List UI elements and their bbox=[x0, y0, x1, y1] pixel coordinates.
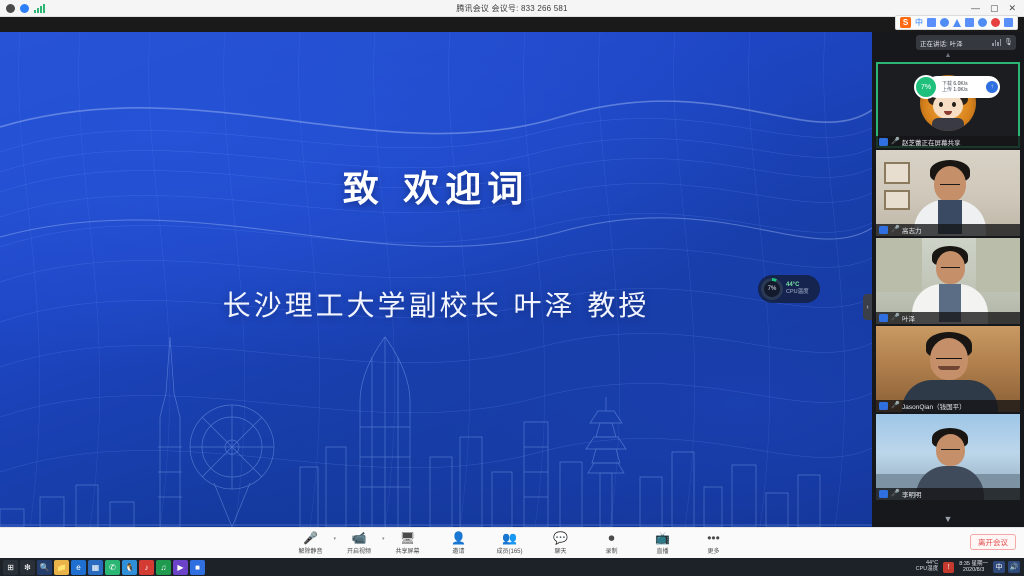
toolbar-label: 邀请 bbox=[453, 546, 465, 555]
share-screen-icon: 🖥 bbox=[400, 531, 415, 545]
participant-name: JasonQian（钱国平） bbox=[902, 401, 966, 411]
microphone-icon: 🎤 bbox=[891, 490, 899, 498]
record-status-icon bbox=[20, 4, 29, 13]
participant-panel: 正在讲话: 叶泽 🎙 ▲ 7% 下载 6.0K/s 上传 1.0K/s bbox=[872, 32, 1024, 527]
participant-tile-3[interactable]: 🎤 JasonQian（钱国平） bbox=[876, 326, 1020, 412]
popup-rows: 下载 6.0K/s 上传 1.0K/s bbox=[942, 81, 968, 94]
cpu-monitor-widget[interactable]: 7% 44°C CPU温度 bbox=[758, 275, 820, 303]
video-on-icon bbox=[879, 490, 888, 498]
tile-2-namebar: 🎤 叶泽 bbox=[876, 312, 1020, 324]
wechat-icon[interactable]: ✆ bbox=[105, 560, 120, 575]
window-controls: — ▢ ✕ bbox=[904, 4, 1024, 13]
mute-status-icon bbox=[6, 4, 15, 13]
microphone-muted-icon: 🎤 bbox=[303, 531, 318, 545]
share-screen-icon bbox=[879, 138, 888, 146]
live-icon: 📺 bbox=[655, 531, 670, 545]
tile-0-namebar: 🎤 赵芝蕾正在屏幕共享 bbox=[876, 136, 1020, 148]
toolbar-button-more[interactable]: ••• 更多 bbox=[694, 531, 734, 555]
netease-icon[interactable]: ♪ bbox=[139, 560, 154, 575]
participant-name: 叶泽 bbox=[902, 313, 915, 323]
members-icon: 👥 bbox=[502, 531, 517, 545]
cpu-temp-block: 44°C CPU温度 bbox=[786, 282, 809, 295]
speaking-label: 正在讲话: 叶泽 bbox=[920, 38, 963, 48]
participant-name: 高志力 bbox=[902, 225, 922, 235]
panel-scroll-up[interactable]: ▲ bbox=[872, 51, 1024, 60]
more-icon: ••• bbox=[707, 531, 720, 545]
titlebar-status-icons bbox=[0, 4, 120, 13]
taskbar-apps: ⊞ ❇ 🔍 📁 e ▦ ✆ 🐧 ♪ ♫ ▶ ■ bbox=[0, 560, 205, 575]
tile-4-namebar: 🎤 李明明 bbox=[876, 488, 1020, 500]
voice-input-icon[interactable] bbox=[953, 19, 961, 27]
toolbar-label: 开启视频 bbox=[347, 546, 371, 555]
start-icon[interactable]: ⊞ bbox=[3, 560, 18, 575]
toolbar-button-share[interactable]: 🖥 共享屏幕 bbox=[388, 531, 428, 555]
taskbar-cpu-widget[interactable]: 44°C CPU温度 bbox=[916, 561, 939, 573]
participant-name: 赵芝蕾正在屏幕共享 bbox=[902, 137, 961, 147]
skin-icon[interactable] bbox=[991, 18, 1000, 27]
panel-scroll-down[interactable]: ▼ bbox=[872, 513, 1024, 525]
toolbar-label: 直播 bbox=[657, 546, 669, 555]
window-title: 腾讯会议 会议号: 833 266 581 bbox=[120, 3, 904, 14]
close-button[interactable]: ✕ bbox=[1008, 4, 1016, 13]
microphone-icon: 🎤 bbox=[891, 314, 899, 322]
participant-tile-4[interactable]: 🎤 李明明 bbox=[876, 414, 1020, 500]
chevron-down-icon[interactable]: ▾ bbox=[333, 536, 336, 542]
toolbox-icon[interactable] bbox=[978, 18, 987, 27]
taskbar-cpu-label: CPU温度 bbox=[916, 567, 939, 573]
video-on-icon bbox=[879, 402, 888, 410]
toolbar-button-members[interactable]: 👥 成员(165) bbox=[490, 531, 530, 555]
cpu-temp-label: CPU温度 bbox=[786, 289, 809, 295]
popup-upload-label: 上传 bbox=[942, 87, 952, 93]
taskbar-clock[interactable]: 8:35 星期一 2020/8/3 bbox=[959, 561, 988, 573]
music-icon[interactable]: ♫ bbox=[156, 560, 171, 575]
ime-icon[interactable]: 中 bbox=[993, 561, 1005, 573]
network-speed-popup: 7% 下载 6.0K/s 上传 1.0K/s ↑ bbox=[926, 76, 1000, 98]
popup-download-value: 6.0K/s bbox=[953, 81, 967, 87]
popup-download-label: 下载 bbox=[942, 81, 952, 87]
participant-tile-1[interactable]: 🎤 高志力 bbox=[876, 150, 1020, 236]
end-meeting-button[interactable]: 离开会议 bbox=[970, 534, 1016, 550]
toolbar-label: 成员(165) bbox=[497, 546, 523, 555]
video-on-icon bbox=[879, 314, 888, 322]
toolbar-button-live[interactable]: 📺 直播 bbox=[643, 531, 683, 555]
toolbar-button-mute[interactable]: 🎤 解除静音 bbox=[290, 531, 330, 555]
edge-icon[interactable]: e bbox=[71, 560, 86, 575]
meeting-toolbar: 🎤 解除静音 ▾ 📹 开启视频 ▾ 🖥 共享屏幕 👤 邀请 👥 成员(165) bbox=[0, 527, 1024, 558]
task-view-icon[interactable]: ❇ bbox=[20, 560, 35, 575]
menu-icon[interactable] bbox=[1004, 18, 1013, 27]
screenshot-icon[interactable] bbox=[965, 18, 974, 27]
toolbar-label: 聊天 bbox=[555, 546, 567, 555]
toolbar-button-invite[interactable]: 👤 邀请 bbox=[439, 531, 479, 555]
video-on-icon bbox=[879, 226, 888, 234]
microphone-icon: 🎤 bbox=[891, 138, 899, 146]
shared-screen-stage: 致 欢迎词 长沙理工大学副校长 叶泽 教授 7% 44°C CPU温度 › bbox=[0, 32, 872, 527]
toolbar-label: 录制 bbox=[606, 546, 618, 555]
sogou-ime-toolbar[interactable]: S 中 bbox=[895, 15, 1018, 30]
maximize-button[interactable]: ▢ bbox=[990, 4, 999, 13]
taskbar-tray-icons: 中 🔊 bbox=[993, 561, 1020, 573]
slide-subtitle: 长沙理工大学副校长 叶泽 教授 bbox=[0, 284, 872, 324]
taskbar-tray: 44°C CPU温度 ! 8:35 星期一 2020/8/3 中 🔊 bbox=[916, 561, 1024, 573]
popup-badge-icon: ↑ bbox=[986, 81, 998, 93]
toolbar-items: 🎤 解除静音 ▾ 📹 开启视频 ▾ 🖥 共享屏幕 👤 邀请 👥 成员(165) bbox=[290, 531, 733, 555]
audio-wave-icon bbox=[992, 39, 1001, 46]
network-signal-icon bbox=[34, 4, 45, 13]
participant-name: 李明明 bbox=[902, 489, 922, 499]
microphone-icon: 🎤 bbox=[891, 226, 899, 234]
chevron-down-icon[interactable]: ▾ bbox=[382, 536, 385, 542]
window-titlebar: 腾讯会议 会议号: 833 266 581 — ▢ ✕ bbox=[0, 0, 1024, 17]
popup-upload-value: 1.0K/s bbox=[953, 87, 967, 93]
microphone-icon: 🎙 bbox=[1004, 39, 1012, 47]
speaking-indicator: 正在讲话: 叶泽 🎙 bbox=[916, 35, 1016, 50]
chinese-mode-icon[interactable]: 中 bbox=[915, 19, 923, 27]
meeting-icon[interactable]: ■ bbox=[190, 560, 205, 575]
qq-icon[interactable]: 🐧 bbox=[122, 560, 137, 575]
cpu-usage-ring: 7% bbox=[761, 278, 783, 300]
participant-tile-0[interactable]: 7% 下载 6.0K/s 上传 1.0K/s ↑ 🎤 赵芝蕾正在屏幕共享 bbox=[876, 62, 1020, 148]
popup-usage-ring: 7% bbox=[914, 75, 938, 99]
search-icon[interactable]: 🔍 bbox=[37, 560, 52, 575]
windows-taskbar: ⊞ ❇ 🔍 📁 e ▦ ✆ 🐧 ♪ ♫ ▶ ■ 44°C CPU温度 ! 8:3… bbox=[0, 558, 1024, 576]
tile-3-namebar: 🎤 JasonQian（钱国平） bbox=[876, 400, 1020, 412]
camera-off-icon: 📹 bbox=[352, 531, 367, 545]
city-skyline-decoration bbox=[0, 297, 872, 527]
video-icon[interactable]: ▶ bbox=[173, 560, 188, 575]
meeting-window: 致 欢迎词 长沙理工大学副校长 叶泽 教授 7% 44°C CPU温度 › 正在… bbox=[0, 17, 1024, 558]
punctuation-icon[interactable] bbox=[927, 18, 936, 27]
toolbar-button-video[interactable]: 📹 开启视频 bbox=[339, 531, 379, 555]
store-icon[interactable]: ▦ bbox=[88, 560, 103, 575]
minimize-button[interactable]: — bbox=[971, 4, 980, 13]
toolbar-label: 解除静音 bbox=[298, 546, 322, 555]
panel-collapse-handle[interactable]: › bbox=[863, 294, 872, 320]
chat-icon: 💬 bbox=[553, 531, 568, 545]
microphone-icon: 🎤 bbox=[891, 402, 899, 410]
invite-icon: 👤 bbox=[451, 531, 466, 545]
volume-icon[interactable]: 🔊 bbox=[1008, 561, 1020, 573]
toolbar-label: 更多 bbox=[708, 546, 720, 555]
record-icon: ⏺ bbox=[609, 531, 615, 545]
toolbar-button-chat[interactable]: 💬 聊天 bbox=[541, 531, 581, 555]
participant-tile-2[interactable]: 🎤 叶泽 bbox=[876, 238, 1020, 324]
toolbar-button-record[interactable]: ⏺ 录制 bbox=[592, 531, 632, 555]
explorer-icon[interactable]: 📁 bbox=[54, 560, 69, 575]
cpu-usage-value: 7% bbox=[764, 281, 780, 297]
emoji-icon[interactable] bbox=[940, 18, 949, 27]
clock-date: 2020/8/3 bbox=[959, 567, 988, 573]
slide-title: 致 欢迎词 bbox=[0, 160, 872, 212]
tile-1-namebar: 🎤 高志力 bbox=[876, 224, 1020, 236]
notification-icon[interactable]: ! bbox=[943, 562, 954, 573]
toolbar-label: 共享屏幕 bbox=[396, 546, 420, 555]
sogou-logo-icon[interactable]: S bbox=[900, 17, 911, 28]
